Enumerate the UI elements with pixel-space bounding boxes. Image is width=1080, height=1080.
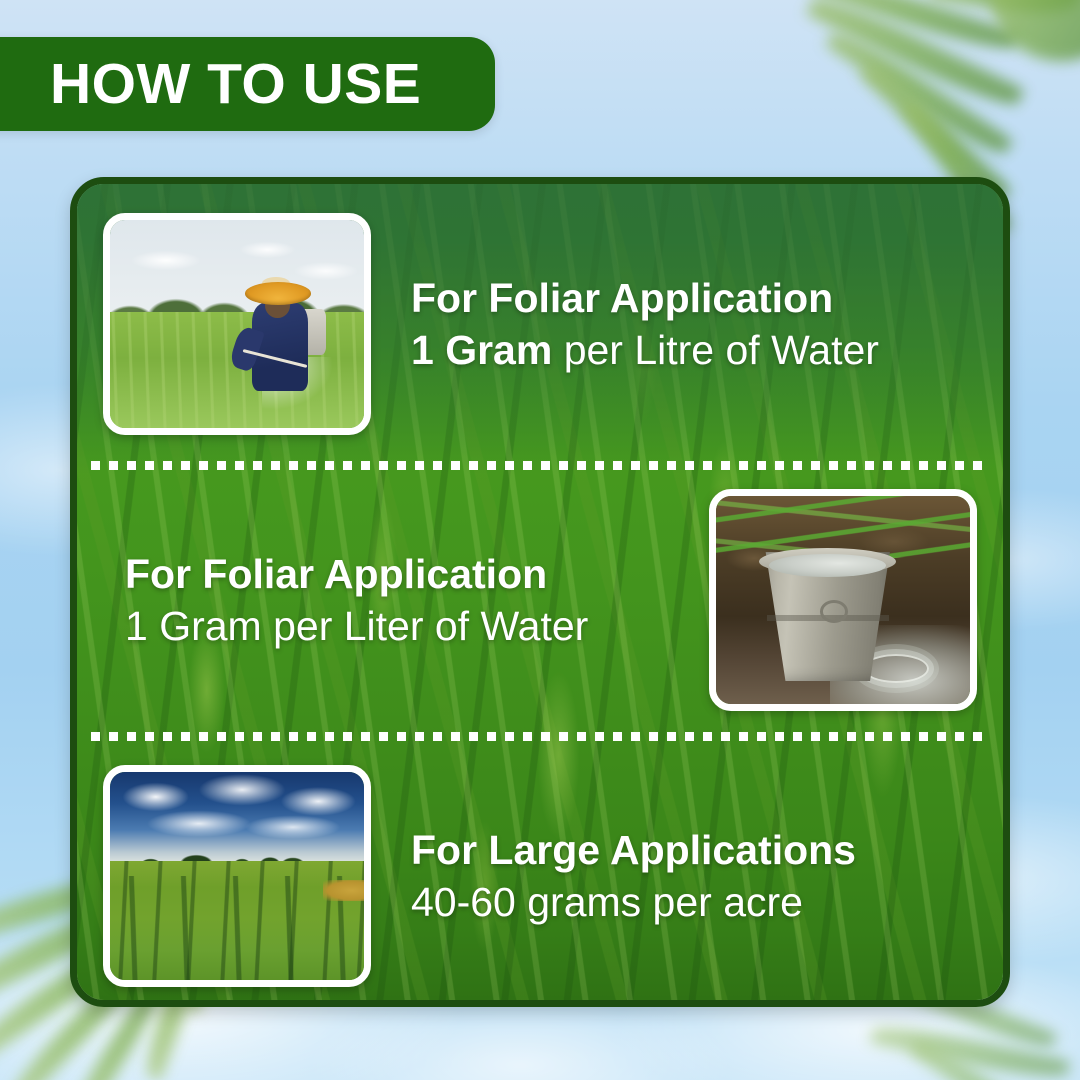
instruction-text-foliar-liter: For Foliar Application 1 Gram per Liter …	[103, 548, 709, 653]
instruction-title: For Foliar Application	[125, 548, 687, 600]
instruction-dose: 40-60 grams per acre	[411, 876, 977, 928]
farmer-spraying-photo	[103, 213, 371, 435]
instruction-dose: 1 Gram per Liter of Water	[125, 600, 687, 652]
page-title: HOW TO USE	[50, 56, 421, 113]
dose-rest: per Litre of Water	[552, 327, 879, 373]
instruction-title: For Large Applications	[411, 824, 977, 876]
dose-rest: 40-60 grams per acre	[411, 879, 803, 925]
instruction-dose: 1 Gram per Litre of Water	[411, 324, 977, 376]
instruction-text-large-applications: For Large Applications 40-60 grams per a…	[371, 824, 977, 929]
instruction-row-foliar-litre: For Foliar Application 1 Gram per Litre …	[77, 184, 1003, 464]
instructions-card: For Foliar Application 1 Gram per Litre …	[70, 177, 1010, 1007]
instruction-title: For Foliar Application	[411, 272, 977, 324]
instruction-row-foliar-liter: For Foliar Application 1 Gram per Liter …	[77, 465, 1003, 735]
instruction-text-foliar-litre: For Foliar Application 1 Gram per Litre …	[371, 272, 977, 377]
dose-value: 1 Gram	[411, 327, 552, 373]
instruction-row-large-applications: For Large Applications 40-60 grams per a…	[77, 736, 1003, 1007]
infographic-page: HOW TO USE	[0, 0, 1080, 1080]
card-content: For Foliar Application 1 Gram per Litre …	[77, 184, 1003, 1000]
dose-rest: 1 Gram per Liter of Water	[125, 603, 588, 649]
header-banner: HOW TO USE	[0, 37, 495, 131]
crop-field-photo	[103, 765, 371, 987]
water-bucket-photo	[709, 489, 977, 711]
